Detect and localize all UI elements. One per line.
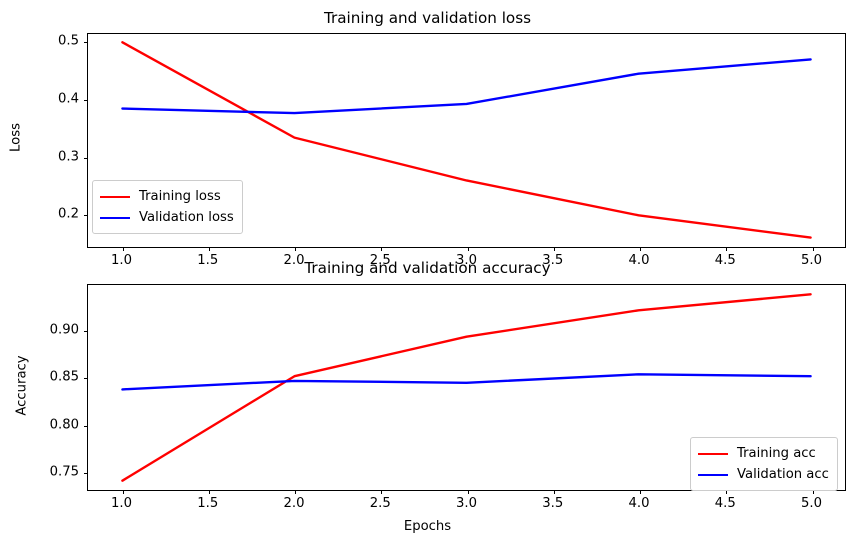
x-tick-mark [813, 247, 814, 251]
y-tick-label: 0.5 [58, 34, 79, 49]
y-tick-mark [84, 473, 88, 474]
x-tick-mark [295, 247, 296, 251]
training-acc-legend-label: Training acc [737, 446, 816, 461]
x-tick-mark [640, 247, 641, 251]
y-tick-label: 0.4 [58, 91, 79, 106]
y-tick-label: 0.85 [50, 370, 79, 385]
y-tick-label: 0.90 [50, 322, 79, 337]
accuracy-x-axis-label: Epochs [0, 519, 855, 534]
x-tick-mark [468, 490, 469, 494]
x-tick-label: 5.0 [801, 496, 822, 511]
y-tick-label: 0.3 [58, 149, 79, 164]
x-tick-mark [209, 490, 210, 494]
x-tick-mark [381, 247, 382, 251]
y-tick-mark [84, 100, 88, 101]
x-tick-label: 2.5 [370, 496, 391, 511]
y-tick-mark [84, 215, 88, 216]
validation-loss-legend-label: Validation loss [139, 210, 234, 225]
loss-y-axis-label: Loss [9, 108, 24, 168]
accuracy-legend: Training acc Validation acc [690, 437, 838, 491]
loss-chart-title: Training and validation loss [0, 9, 855, 27]
x-tick-mark [554, 247, 555, 251]
y-tick-label: 0.75 [50, 465, 79, 480]
y-tick-mark [84, 426, 88, 427]
x-tick-label: 1.5 [197, 496, 218, 511]
x-tick-mark [468, 247, 469, 251]
x-tick-label: 3.5 [542, 496, 563, 511]
x-tick-mark [640, 490, 641, 494]
x-tick-mark [123, 247, 124, 251]
training-acc-line-swatch [698, 453, 728, 455]
legend-entry-validation-acc: Validation acc [698, 464, 829, 485]
x-tick-mark [726, 247, 727, 251]
legend-entry-validation-loss: Validation loss [100, 207, 234, 228]
validation-acc-line-swatch [698, 474, 728, 476]
validation-acc-legend-label: Validation acc [737, 467, 829, 482]
y-tick-label: 0.80 [50, 417, 79, 432]
x-tick-label: 4.0 [629, 496, 650, 511]
loss-legend: Training loss Validation loss [92, 180, 243, 234]
accuracy-y-axis-label: Accuracy [15, 346, 30, 426]
training-loss-legend-label: Training loss [139, 189, 221, 204]
series-line-1 [122, 59, 810, 113]
x-tick-label: 3.0 [456, 496, 477, 511]
y-tick-mark [84, 331, 88, 332]
matplotlib-figure: Training and validation loss Loss 0.20.3… [0, 0, 855, 547]
x-tick-mark [295, 490, 296, 494]
x-tick-label: 4.5 [715, 496, 736, 511]
x-tick-label: 2.0 [284, 496, 305, 511]
y-tick-mark [84, 42, 88, 43]
y-tick-mark [84, 378, 88, 379]
x-tick-mark [123, 490, 124, 494]
x-tick-mark [381, 490, 382, 494]
accuracy-chart-title: Training and validation accuracy [0, 259, 855, 277]
training-loss-line-swatch [100, 196, 130, 198]
y-tick-mark [84, 158, 88, 159]
validation-loss-line-swatch [100, 217, 130, 219]
x-tick-mark [554, 490, 555, 494]
x-tick-mark [209, 247, 210, 251]
legend-entry-training-loss: Training loss [100, 186, 234, 207]
y-tick-label: 0.2 [58, 207, 79, 222]
series-line-1 [122, 374, 810, 389]
x-tick-label: 1.0 [111, 496, 132, 511]
legend-entry-training-acc: Training acc [698, 443, 829, 464]
